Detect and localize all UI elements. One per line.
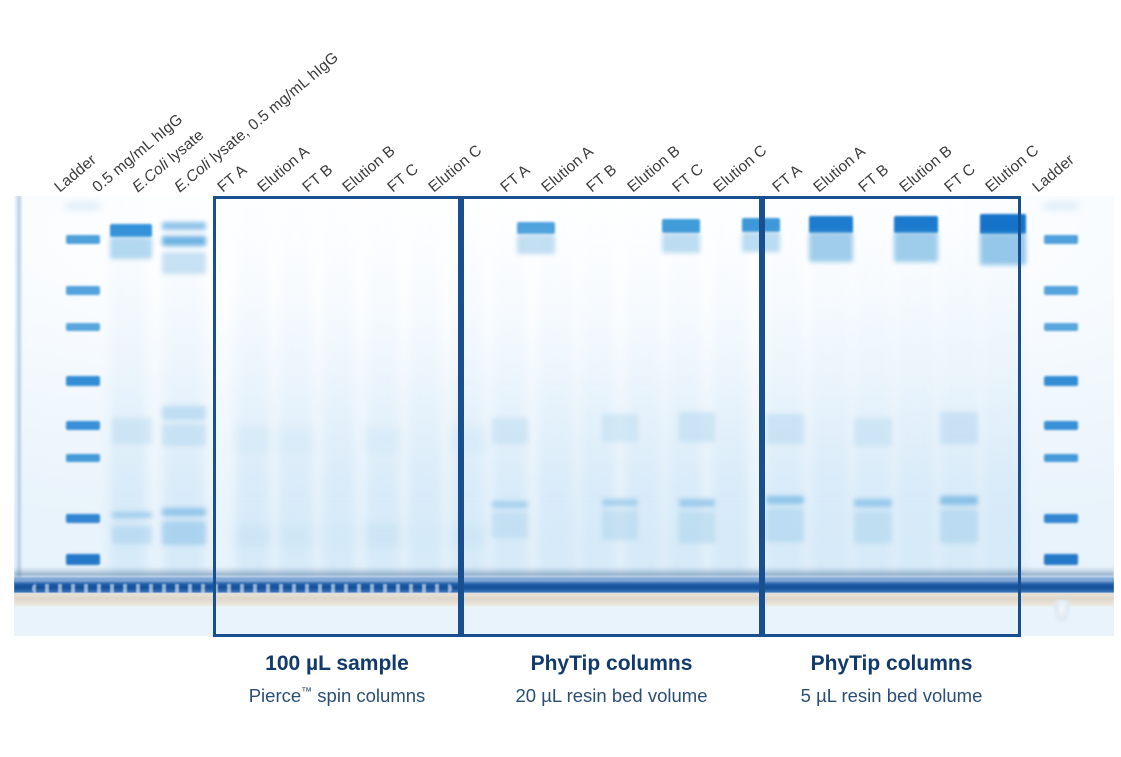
- group-caption-subtitle: 20 µL resin bed volume: [461, 686, 762, 706]
- lane-label-0: Ladder: [52, 152, 99, 195]
- gel-band-ladder-right: [1044, 421, 1078, 430]
- lane-label-15: Elution C: [711, 143, 770, 196]
- group-box-phytip-5ul: [762, 196, 1021, 637]
- gel-band-lysate: [162, 222, 206, 230]
- lane-label-6: FT B: [300, 162, 336, 196]
- gel-figure: Ladder0.5 mg/mL hIgGE.Coli lysateE.Coli …: [0, 0, 1121, 757]
- group-box-pierce-spin-columns: [213, 196, 461, 637]
- lane-label-4: FT A: [215, 163, 250, 196]
- group-box-phytip-20ul: [461, 196, 762, 637]
- group-caption-2: PhyTip columns5 µL resin bed volume: [762, 652, 1021, 706]
- lane-label-14: FT C: [670, 161, 706, 195]
- group-caption-title: PhyTip columns: [762, 652, 1021, 675]
- gel-band-higg: [112, 526, 152, 544]
- gel-band-higg: [110, 224, 152, 237]
- gel-band-ladder-left: [66, 323, 100, 331]
- group-caption-1: PhyTip columns20 µL resin bed volume: [461, 652, 762, 706]
- gel-band-ladder-right: [1044, 554, 1078, 565]
- gel-band-ladder-right: [1044, 204, 1078, 208]
- gel-band-ladder-left: [66, 554, 100, 565]
- gel-band-ladder-right: [1044, 235, 1078, 244]
- lane-label-18: FT B: [856, 162, 892, 196]
- gel-band-ladder-right: [1044, 376, 1078, 386]
- gel-band-higg: [110, 237, 152, 259]
- gel-band-higg: [112, 418, 152, 444]
- group-caption-title: PhyTip columns: [461, 652, 762, 675]
- gel-glass-edge: [14, 196, 23, 578]
- lane-label-9: Elution C: [426, 143, 485, 196]
- group-caption-0: 100 µL samplePierce™ spin columns: [213, 652, 461, 707]
- lane-label-12: FT B: [584, 162, 620, 196]
- gel-band-ladder-left: [66, 376, 100, 386]
- gel-band-ladder-left: [66, 235, 100, 244]
- gel-band-ladder-right: [1044, 323, 1078, 331]
- gel-band-ladder-right: [1044, 514, 1078, 523]
- group-caption-subtitle: 5 µL resin bed volume: [762, 686, 1021, 706]
- lane-label-10: FT A: [498, 163, 533, 196]
- cassette-drip: [1054, 600, 1070, 624]
- gel-band-lysate: [162, 424, 206, 446]
- gel-band-lysate: [162, 252, 206, 274]
- gel-band-ladder-left: [66, 421, 100, 430]
- gel-band-lysate: [162, 521, 206, 545]
- lane-label-8: FT C: [385, 161, 421, 195]
- gel-band-ladder-left: [66, 204, 100, 208]
- gel-band-lysate: [162, 236, 206, 246]
- gel-band-lysate: [162, 406, 206, 420]
- gel-band-higg: [112, 512, 152, 518]
- group-caption-subtitle: Pierce™ spin columns: [213, 686, 461, 707]
- gel-band-ladder-right: [1044, 286, 1078, 295]
- gel-band-ladder-right: [1044, 454, 1078, 462]
- gel-band-ladder-left: [66, 514, 100, 523]
- gel-band-ladder-left: [66, 454, 100, 462]
- lane-label-16: FT A: [770, 163, 805, 196]
- gel-band-ladder-left: [66, 286, 100, 295]
- group-caption-title: 100 µL sample: [213, 652, 461, 675]
- gel-band-lysate: [162, 508, 206, 516]
- lane-label-20: FT C: [942, 161, 978, 195]
